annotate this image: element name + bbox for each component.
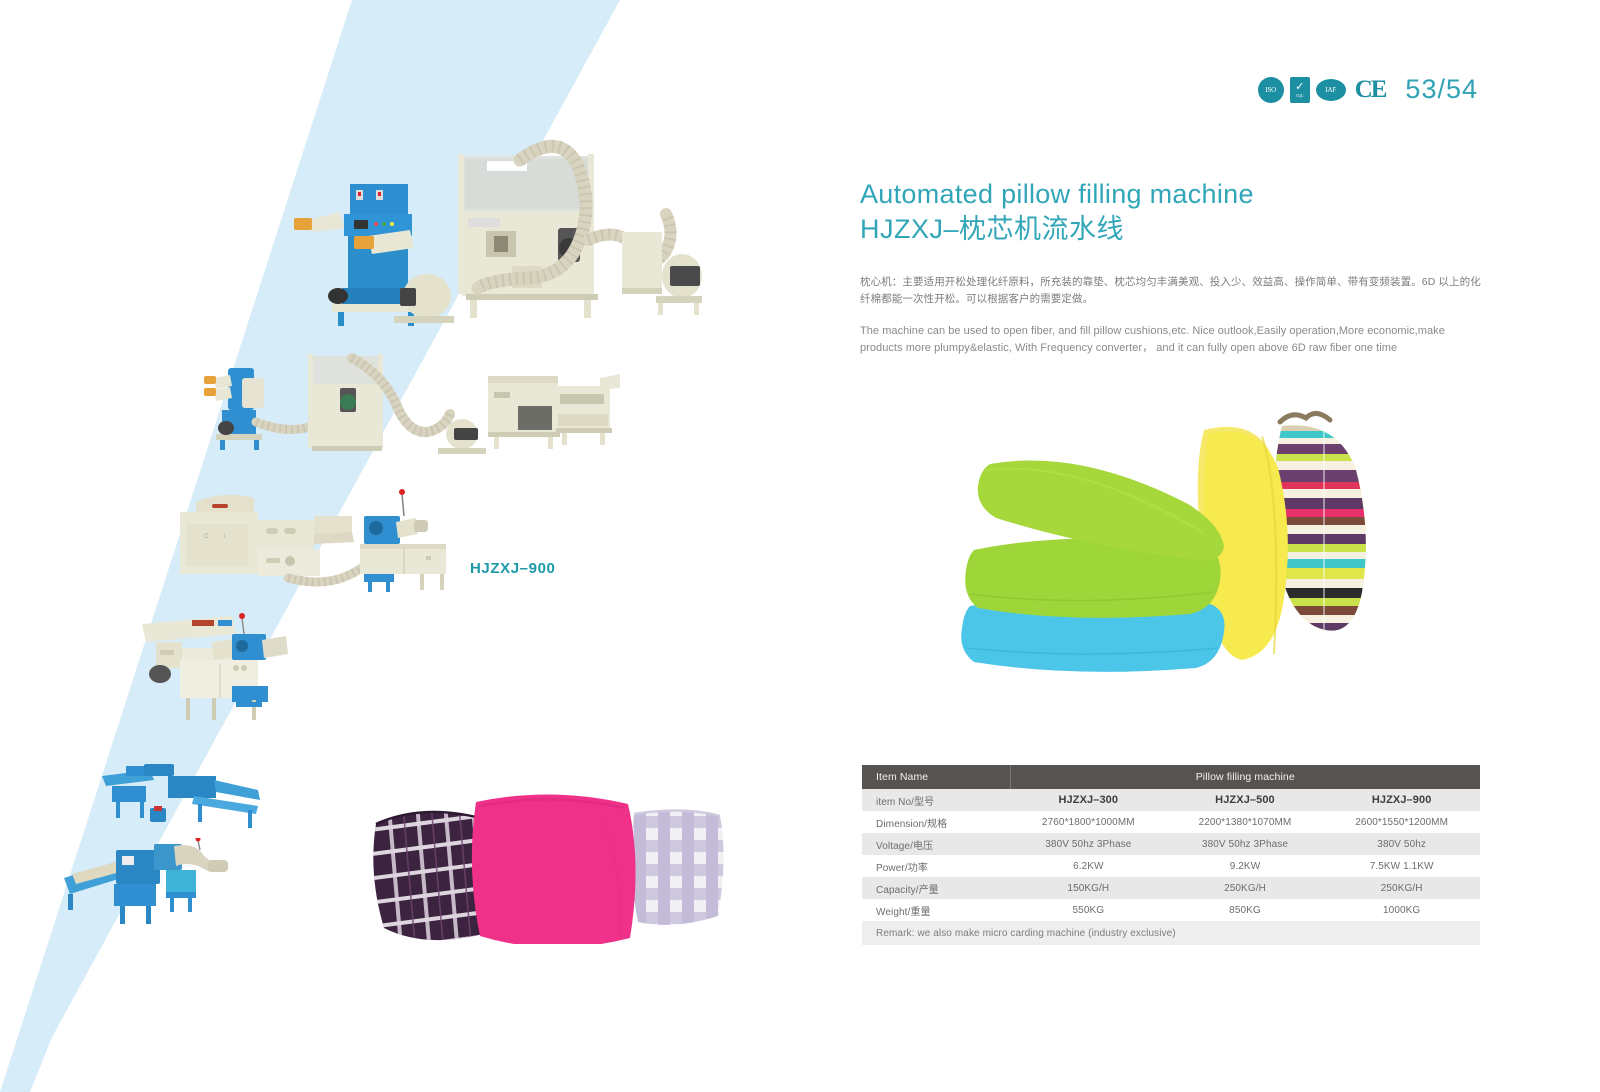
row-label: item No/型号 [862, 789, 1010, 811]
catalog-page: ISO ✓ CQC IAF CE 53/54 Automated pillow … [0, 0, 1600, 1092]
table-header-item-name: Item Name [862, 765, 1010, 789]
row-value: 250KG/H [1167, 877, 1324, 899]
table-header-row: Item Name Pillow filling machine [862, 765, 1480, 789]
pink-pillow [472, 794, 636, 944]
check-badge: ✓ CQC [1290, 77, 1310, 103]
ce-mark-icon: CE [1355, 76, 1386, 104]
blue-opener-machine [64, 838, 228, 924]
row-value: 1000KG [1323, 899, 1480, 921]
machine-photo-hjzxj-900: C I [178, 482, 468, 592]
iaf-badge: IAF [1316, 79, 1346, 101]
carding-drum-unit: C I [180, 495, 354, 576]
product-info-column: Automated pillow filling machine HJZXJ–枕… [860, 178, 1490, 358]
row-label: Capacity/产量 [862, 877, 1010, 899]
row-label: Power/功率 [862, 855, 1010, 877]
vibrating-hopper [142, 613, 288, 720]
table-remark-row: Remark: we also make micro carding machi… [862, 921, 1480, 945]
row-label: Weight/重量 [862, 899, 1010, 921]
page-number: 53/54 [1405, 74, 1478, 105]
row-value: 550KG [1010, 899, 1167, 921]
blue-filling-unit [360, 489, 446, 592]
machine-photo-hjzxj-line-1 [272, 136, 702, 341]
iso-badge-label: ISO [1265, 86, 1276, 94]
row-value: 2600*1550*1200MM [1323, 811, 1480, 833]
cyclone-separator-right [622, 232, 702, 315]
row-value: 380V 50hz 3Phase [1167, 833, 1324, 855]
row-value: 2200*1380*1070MM [1167, 811, 1324, 833]
certification-row: ISO ✓ CQC IAF CE 53/54 [1258, 74, 1478, 105]
row-value: 380V 50hz [1323, 833, 1480, 855]
table-row: Weight/重量 550KG 850KG 1000KG [862, 899, 1480, 921]
machine-photo-hjzxj-line-2 [200, 348, 620, 468]
product-title-chinese: HJZXJ–枕芯机流水线 [860, 213, 1490, 246]
row-value: 6.2KW [1010, 855, 1167, 877]
check-badge-sub: CQC [1296, 94, 1304, 98]
gingham-pillow [628, 806, 728, 934]
table-row: Capacity/产量 150KG/H 250KG/H 250KG/H [862, 877, 1480, 899]
iaf-badge-label: IAF [1325, 86, 1336, 94]
table-row: Voltage/电压 380V 50hz 3Phase 380V 50hz 3P… [862, 833, 1480, 855]
machine-photo-conveyor-unit [98, 762, 288, 832]
row-value: 2760*1800*1000MM [1010, 811, 1167, 833]
row-value: 7.5KW 1.1KW [1323, 855, 1480, 877]
row-value: HJZXJ–900 [1323, 789, 1480, 811]
bottom-pillow-photo [362, 772, 734, 944]
table-header-product-title: Pillow filling machine [1010, 765, 1480, 789]
check-badge-tick: ✓ [1295, 82, 1304, 93]
blue-feeder-unit [204, 368, 264, 450]
table-row: Dimension/规格 2760*1800*1000MM 2200*1380*… [862, 811, 1480, 833]
row-value: 380V 50hz 3Phase [1010, 833, 1167, 855]
row-value: 9.2KW [1167, 855, 1324, 877]
row-value: 150KG/H [1010, 877, 1167, 899]
row-label: Dimension/规格 [862, 811, 1010, 833]
carding-machine-unit [488, 374, 620, 449]
blue-conveyor-line [102, 764, 260, 828]
row-value: HJZXJ–500 [1167, 789, 1324, 811]
row-label: Voltage/电压 [862, 833, 1010, 855]
product-title-english: Automated pillow filling machine [860, 178, 1490, 211]
row-value: 250KG/H [1323, 877, 1480, 899]
product-description-english: The machine can be used to open fiber, a… [860, 323, 1490, 359]
svg-text:C: C [204, 534, 209, 540]
machine-photo-opener-unit [62, 838, 252, 928]
row-value: 850KG [1167, 899, 1324, 921]
table-row: item No/型号 HJZXJ–300 HJZXJ–500 HJZXJ–900 [862, 789, 1480, 811]
table-row: Power/功率 6.2KW 9.2KW 7.5KW 1.1KW [862, 855, 1480, 877]
pillow-product-photo [952, 392, 1392, 680]
table-remark: Remark: we also make micro carding machi… [862, 921, 1480, 945]
featured-model-label: HJZXJ–900 [470, 560, 555, 577]
specification-table: Item Name Pillow filling machine item No… [862, 765, 1480, 945]
row-value: HJZXJ–300 [1010, 789, 1167, 811]
machine-photo-vibrating-feeder [136, 612, 336, 724]
iso-badge: ISO [1258, 77, 1284, 103]
product-description-chinese: 枕心机：主要适用开松处理化纤原料，所充装的靠垫、枕芯均匀丰满美观、投入少、效益高… [860, 274, 1490, 309]
